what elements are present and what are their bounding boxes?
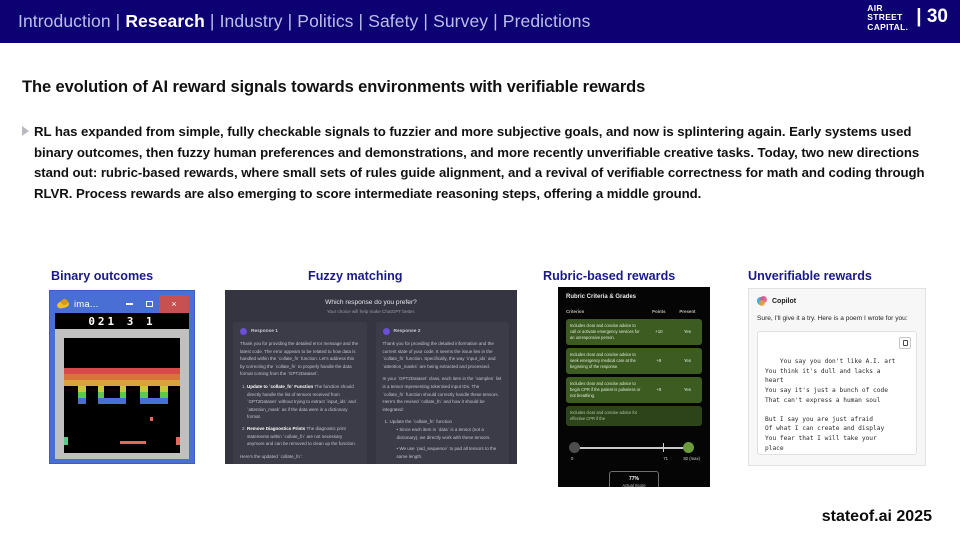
slider-tick-mark — [663, 443, 665, 452]
score-caption: Actual Score — [612, 483, 656, 487]
preference-question: Which response do you prefer? — [225, 299, 517, 306]
atari-window-title: ima... — [74, 299, 98, 310]
slider-label-min: 0 — [571, 456, 573, 461]
column-header-points: Points — [645, 309, 673, 316]
atari-paddle — [120, 441, 146, 444]
caption-rubric-based-rewards: Rubric-based rewards — [543, 269, 675, 283]
panel-binary-outcomes-atari: ima... × 021 3 1 — [49, 290, 195, 464]
page-title: The evolution of AI reward signals towar… — [22, 78, 922, 97]
panel-unverifiable-rewards-copilot: Copilot Sure, I'll give it a try. Here i… — [748, 288, 926, 466]
table-header-row: Criterion Points Present — [566, 309, 702, 316]
minimize-icon[interactable] — [119, 295, 139, 313]
top-navigation-bar: Introduction | Research | Industry | Pol… — [0, 0, 960, 43]
list-item: Remove Diagnostics Prints The diagnostic… — [247, 425, 360, 448]
rubric-present: Yes — [673, 319, 702, 345]
brand-line-capital: CAPITAL. — [867, 23, 908, 32]
response-2-header: Response 2 — [383, 328, 503, 335]
nav-item-politics[interactable]: Politics — [297, 11, 353, 32]
rubric-criterion: Includes clear and concise advice for ef… — [566, 406, 645, 426]
poem-code-block: You say you don't like A.I. art You thin… — [757, 331, 917, 455]
column-header-present: Present — [673, 309, 702, 316]
body-text: RL has expanded from simple, fully check… — [34, 122, 934, 204]
slider-label-actual: 71 — [663, 456, 668, 461]
rubric-present: Yes — [673, 377, 702, 403]
slider-handle-min[interactable] — [569, 442, 580, 453]
table-row: Includes clear and concise advice to cal… — [566, 319, 702, 345]
response-1-label: Response 1 — [251, 329, 278, 334]
caption-fuzzy-matching: Fuzzy matching — [308, 269, 402, 283]
preference-header: Which response do you prefer? Your choic… — [225, 290, 517, 314]
window-controls: × — [119, 295, 189, 313]
nav-separator: | — [288, 11, 293, 32]
response-2-item-1-heading: Update the `collate_fn` function — [390, 419, 453, 424]
response-1-header: Response 1 — [240, 328, 360, 335]
copilot-logo-icon — [757, 296, 767, 306]
response-2-body: Thank you for providing the detailed inf… — [383, 340, 503, 460]
rubric-points: +10 — [645, 319, 673, 345]
app-icon — [57, 298, 70, 311]
response-columns: Response 1 Thank you for providing the d… — [225, 314, 517, 464]
list-item: Since each item in `data` is a tensor (n… — [397, 426, 503, 441]
rubric-title: Rubric Criteria & Grades — [566, 294, 702, 300]
openai-logo-icon — [240, 328, 247, 335]
rubric-table: Criterion Points Present Includes clear … — [566, 306, 702, 429]
nav-item-introduction[interactable]: Introduction — [18, 11, 111, 32]
response-2-paragraph-2: In your `GPT2Dataset` class, each item i… — [383, 375, 503, 413]
nav-separator: | — [423, 11, 428, 32]
assistant-name: Copilot — [772, 298, 796, 305]
response-1-paragraph: Thank you for providing the detailed err… — [240, 340, 360, 378]
nav-separator: | — [210, 11, 215, 32]
panel-rubric-based-rewards: Rubric Criteria & Grades Criterion Point… — [558, 287, 710, 487]
actual-score-box: 77% Actual Score — [609, 471, 659, 487]
nav-separator: | — [116, 11, 121, 32]
response-1-body: Thank you for providing the detailed err… — [240, 340, 360, 460]
atari-window-titlebar: ima... × — [55, 295, 189, 313]
nav-item-predictions[interactable]: Predictions — [503, 11, 591, 32]
slider-handle-max[interactable] — [683, 442, 694, 453]
panel-fuzzy-matching-chatgpt: Which response do you prefer? Your choic… — [225, 290, 517, 464]
openai-logo-icon — [383, 328, 390, 335]
slider-track — [574, 447, 688, 449]
response-1-item-1-heading: Update to `collate_fn` Function — [247, 384, 313, 389]
rubric-criterion: Includes clear and concise advice to cal… — [566, 319, 645, 345]
response-1-item-1-text: The function should directly handle the … — [247, 384, 356, 419]
nav-item-safety[interactable]: Safety — [368, 11, 418, 32]
list-item: Update the `collate_fn` function Since e… — [390, 418, 503, 460]
list-item: Update to `collate_fn` Function The func… — [247, 383, 360, 421]
table-row: Includes clear and concise advice to beg… — [566, 377, 702, 403]
close-icon[interactable]: × — [159, 295, 189, 313]
poem-text: You say you don't like A.I. art You thin… — [765, 358, 895, 455]
triangle-bullet-icon — [22, 126, 29, 136]
response-2-paragraph: Thank you for providing the detailed inf… — [383, 340, 503, 370]
response-1-closing: Here's the updated `collate_fn`: — [240, 453, 360, 461]
rubric-points: +8 — [645, 377, 673, 403]
page-number: | 30 — [916, 7, 948, 26]
table-row: Includes clear and concise advice for ef… — [566, 406, 702, 426]
score-slider[interactable]: 0 71 82 (max) — [566, 441, 702, 467]
score-percentage: 77% — [612, 476, 656, 482]
atari-left-wall — [64, 437, 68, 445]
table-row: Includes clear and concise advice to see… — [566, 348, 702, 374]
response-card-1[interactable]: Response 1 Thank you for providing the d… — [233, 322, 367, 464]
nav-item-survey[interactable]: Survey — [433, 11, 488, 32]
body-bullet: RL has expanded from simple, fully check… — [22, 122, 934, 204]
rubric-present — [673, 406, 702, 426]
nav-separator: | — [493, 11, 498, 32]
copilot-intro-text: Sure, I'll give it a try. Here is a poem… — [757, 313, 917, 324]
list-item: We use `pad_sequence` to pad all tensors… — [397, 445, 503, 460]
brand-wordmark: AIR STREET CAPITAL. — [867, 4, 908, 32]
rubric-present: Yes — [673, 348, 702, 374]
slider-label-max: 82 (max) — [683, 456, 700, 461]
atari-game-screen: 021 3 1 — [55, 313, 189, 459]
rubric-criterion: Includes clear and concise advice to beg… — [566, 377, 645, 403]
response-1-item-2-heading: Remove Diagnostics Prints — [247, 426, 305, 431]
rubric-points — [645, 406, 673, 426]
brick-wall — [64, 368, 180, 404]
maximize-icon[interactable] — [139, 295, 159, 313]
response-2-label: Response 2 — [394, 329, 421, 334]
rubric-criterion: Includes clear and concise advice to see… — [566, 348, 645, 374]
atari-scoreboard: 021 3 1 — [55, 313, 189, 329]
atari-play-field — [64, 338, 180, 453]
footer-branding: stateof.ai 2025 — [822, 508, 932, 526]
nav-item-industry[interactable]: Industry — [220, 11, 283, 32]
copilot-header: Copilot — [757, 296, 917, 306]
caption-binary-outcomes: Binary outcomes — [51, 269, 153, 283]
nav-item-list: Introduction | Research | Industry | Pol… — [18, 11, 590, 32]
air-street-capital-logo: AIR STREET CAPITAL. | 30 — [867, 4, 948, 32]
rubric-points: +8 — [645, 348, 673, 374]
atari-ball — [150, 417, 153, 421]
column-header-criterion: Criterion — [566, 309, 645, 316]
copy-icon[interactable] — [899, 337, 911, 349]
caption-unverifiable-rewards: Unverifiable rewards — [748, 269, 872, 283]
nav-item-research[interactable]: Research — [125, 11, 205, 32]
atari-right-wall — [176, 437, 180, 445]
nav-separator: | — [359, 11, 364, 32]
response-card-2[interactable]: Response 2 Thank you for providing the d… — [376, 322, 510, 464]
